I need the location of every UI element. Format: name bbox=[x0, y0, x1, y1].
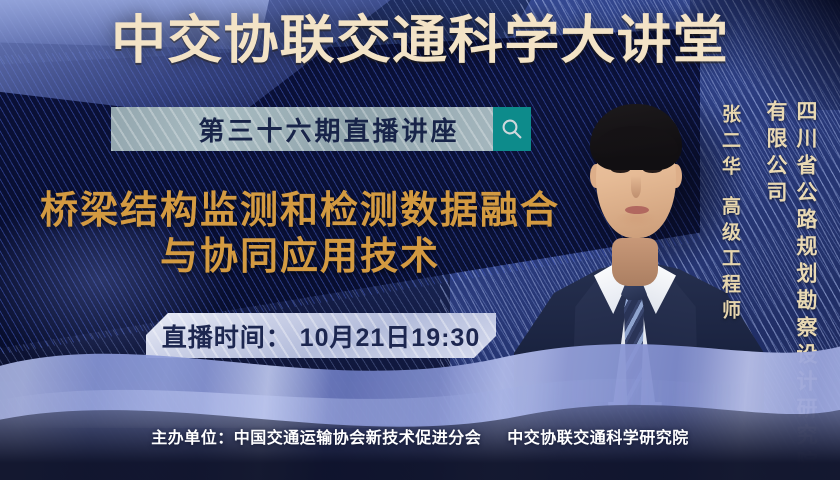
search-icon[interactable] bbox=[493, 107, 531, 151]
speaker-neck bbox=[612, 238, 658, 286]
episode-label: 第三十六期直播讲座 bbox=[134, 111, 469, 148]
speaker-nose bbox=[631, 176, 641, 198]
organizer-footer-overlay: 主办单位：中国交通运输协会新技术促进分会中交协联交通科学研究院 bbox=[0, 424, 840, 448]
speaker-chin-shading bbox=[612, 214, 660, 236]
lecture-title: 桥梁结构监测和检测数据融合 与协同应用技术 bbox=[40, 188, 560, 281]
speaker-mouth bbox=[625, 206, 649, 214]
page-title: 中交协联交通科学大讲堂 bbox=[0, 14, 840, 69]
episode-banner: 第三十六期直播讲座 bbox=[111, 107, 531, 151]
lecture-title-line1: 桥梁结构监测和检测数据融合 bbox=[40, 190, 560, 232]
lecture-title-line2: 与协同应用技术 bbox=[40, 234, 560, 280]
speaker-role: 高级工程师 bbox=[716, 196, 743, 326]
footer-label-overlay: 主办单位： bbox=[151, 430, 234, 447]
speaker-name: 张二华 bbox=[716, 104, 743, 182]
footer-organizer-2-overlay: 中交协联交通科学研究院 bbox=[507, 430, 689, 447]
schedule-plate: 直播时间： 10月21日19:30 bbox=[146, 313, 496, 358]
episode-banner-bar: 第三十六期直播讲座 bbox=[111, 107, 493, 151]
live-lecture-poster: 中交协联交通科学大讲堂 第三十六期直播讲座 桥梁结构监测和检测数据融合 与协同应… bbox=[0, 0, 840, 480]
schedule-text: 直播时间： 10月21日19:30 bbox=[162, 318, 481, 354]
footer-organizer-1-overlay: 中国交通运输协会新技术促进分会 bbox=[234, 430, 482, 447]
